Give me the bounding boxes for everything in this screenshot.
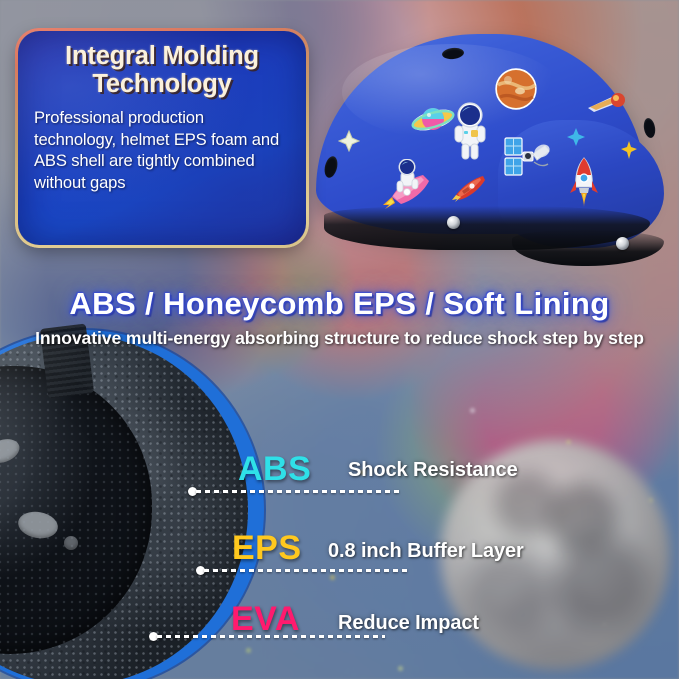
satellite-sticker (504, 134, 556, 178)
callout-body: Professional production technology, helm… (34, 107, 290, 193)
product-infographic: Integral Molding Technology Professional… (0, 0, 679, 679)
star-sticker-yellow (621, 141, 637, 159)
ringed-planet-sticker (410, 102, 456, 138)
layer-key-eps: EPS (232, 529, 302, 568)
astronaut-sticker (453, 102, 487, 160)
helmet-liner-photo (0, 330, 264, 679)
vent-hole (642, 117, 656, 139)
layer-key-abs: ABS (238, 450, 311, 489)
leader-line-eps (196, 566, 410, 574)
leader-dashes-eva (157, 635, 385, 638)
rivet (616, 237, 629, 250)
rivet (447, 216, 460, 229)
layer-desc-eps: 0.8 inch Buffer Layer (328, 540, 524, 563)
leader-dashes-eps (204, 569, 410, 572)
liner-highlight (0, 330, 264, 679)
banner-subtitle: Innovative multi-energy absorbing struct… (0, 328, 679, 349)
rocket-sticker (568, 157, 600, 209)
star-sticker-white (338, 130, 360, 152)
leader-line-abs (188, 487, 402, 495)
layer-desc-abs: Shock Resistance (348, 459, 518, 482)
integral-molding-callout: Integral Molding Technology Professional… (18, 31, 306, 245)
helmet-rear-rim (512, 230, 664, 266)
banner-title: ABS / Honeycomb EPS / Soft Lining (0, 286, 679, 322)
callout-title: Integral Molding Technology (34, 43, 290, 98)
comet-sticker (586, 91, 628, 115)
red-rocket-sticker (452, 173, 486, 203)
astronaut-on-rocket-sticker (379, 159, 437, 211)
star-sticker-blue (566, 127, 586, 147)
mars-planet-sticker (494, 67, 538, 111)
helmet-product-image (316, 34, 668, 266)
leader-dashes-abs (196, 490, 402, 493)
leader-line-eva (149, 632, 385, 640)
materials-banner: ABS / Honeycomb EPS / Soft Lining Innova… (0, 286, 679, 349)
